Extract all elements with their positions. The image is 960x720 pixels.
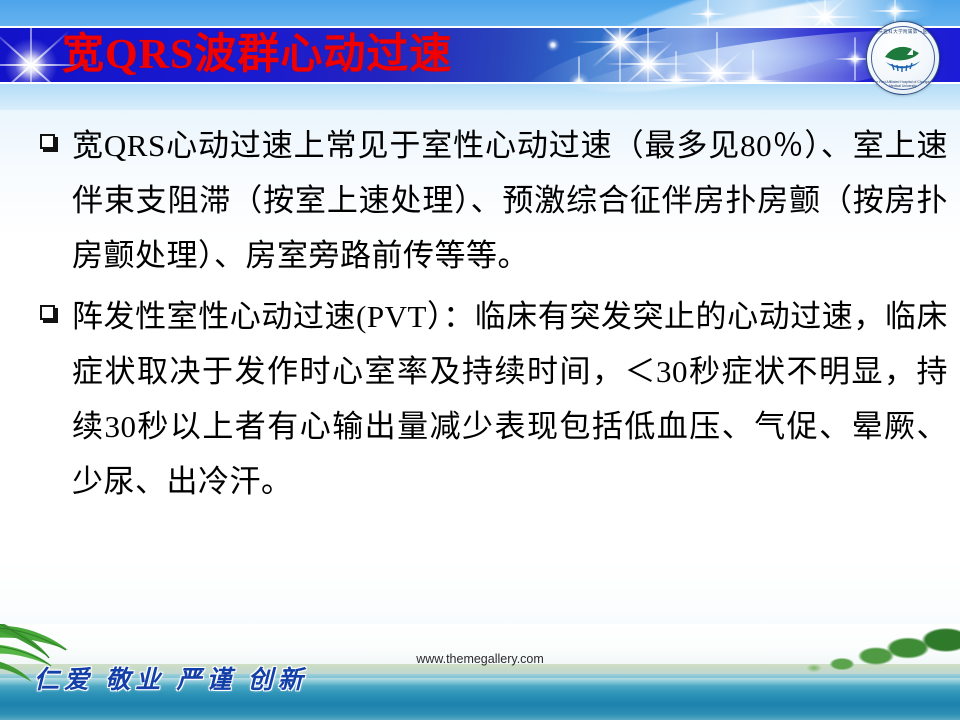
bullet-item: 阵发性室性心动过速(PVT）：临床有突发突止的心动过速，临床症状取决于发作时心室… <box>0 289 960 509</box>
slide-body: 宽QRS心动过速上常见于室性心动过速（最多见80％）、室上速伴束支阻滞（按室上速… <box>0 118 960 515</box>
sparkle-icon <box>546 38 560 52</box>
sparkle-icon <box>568 72 590 84</box>
sparkle-icon <box>700 56 734 84</box>
slide-title: 宽QRS波群心动过速 <box>62 28 452 82</box>
logo-emblem-icon <box>883 44 923 72</box>
sparkle-icon <box>664 68 688 84</box>
footer-url: www.themegallery.com <box>0 652 960 666</box>
slide-footer: 仁爱 敬业 严谨 创新 www.themegallery.com <box>0 624 960 720</box>
bullet-text: 阵发性室性心动过速(PVT）：临床有突发突止的心动过速，临床症状取决于发作时心室… <box>72 289 948 509</box>
sparkle-icon <box>4 38 58 84</box>
hospital-logo: 重庆医科大学附属第一医院 The First Affiliated Hospit… <box>866 21 940 95</box>
presentation-slide: 宽QRS波群心动过速 重庆医科大学附属第一医院 The First Affili… <box>0 0 960 720</box>
bullet-text: 宽QRS心动过速上常见于室性心动过速（最多见80％）、室上速伴束支阻滞（按室上速… <box>72 118 948 283</box>
hollow-square-bullet-icon <box>40 305 55 320</box>
sparkle-icon <box>630 46 666 82</box>
sparkle-icon <box>740 68 766 84</box>
logo-bottom-text: The First Affiliated Hospital of Chongqi… <box>867 80 939 88</box>
logo-top-text: 重庆医科大学附属第一医院 <box>867 29 939 35</box>
hollow-square-bullet-icon <box>40 134 55 149</box>
sparkle-icon <box>600 26 640 62</box>
sparkle-icon <box>846 50 864 68</box>
bullet-item: 宽QRS心动过速上常见于室性心动过速（最多见80％）、室上速伴束支阻滞（按室上速… <box>0 118 960 283</box>
